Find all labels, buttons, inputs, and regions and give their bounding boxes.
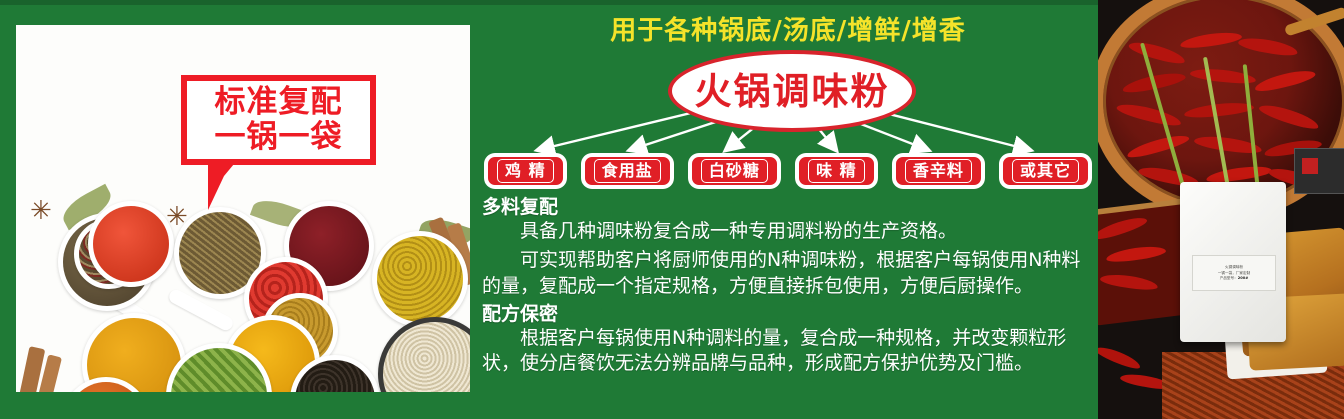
product-bag-label: 火锅调味粉 一锅一袋，厂家定制 产品型号：200# [1192,255,1276,291]
dried-chili [1098,343,1142,371]
description-block: 多料复配 具备几种调味粉复合成一种专用调料粉的生产资格。 可实现帮助客户将厨师使… [482,196,1094,380]
chili-pan-photo: 火锅调味粉 一锅一袋，厂家定制 产品型号：200# [1098,0,1344,419]
product-title: 火锅调味粉 [695,73,890,110]
product-bag: 火锅调味粉 一锅一袋，厂家定制 产品型号：200# [1180,182,1286,342]
middle-content: 用于各种锅底/汤底/增鲜/增香 火锅调味粉 鸡 精 食用盐 白砂糖 [478,0,1098,419]
bubble-line-2: 一锅一袋 [215,122,343,153]
promo-banner: ✳ ✳ ✳ [0,0,1344,419]
speech-bubble-tail [208,164,234,210]
speech-bubble: 标准复配 一锅一袋 [181,75,376,165]
spice-bowl-mustard [372,231,468,327]
bag-label-line-1: 火锅调味粉 [1225,265,1243,269]
bag-label-line-3: 产品型号：200# [1220,276,1248,280]
spice-scene: ✳ ✳ ✳ [16,25,470,392]
bag-label-model-prefix: 产品型号： [1220,276,1238,280]
product-title-badge: 火锅调味粉 [668,50,916,132]
section-paragraph: 可实现帮助客户将厨师使用的N种调味粉，根据客户每锅使用N种料的量，复配成一个指定… [482,248,1094,298]
bubble-line-1: 标准复配 [215,87,343,118]
section-heading: 配方保密 [482,303,1094,325]
bag-label-model-value: 200# [1238,276,1249,280]
section-paragraph: 根据客户每锅使用N种调料的量，复合成一种规格，并改变颗粒形状，使分店餐饮无法分辨… [482,326,1094,376]
section-paragraph: 具备几种调味粉复合成一种专用调料粉的生产资格。 [482,219,1094,244]
cooker-indicator [1302,158,1318,174]
star-anise-icon: ✳ [30,197,52,223]
spice-bowl-sesame [378,317,470,392]
spice-bowls-photo: ✳ ✳ ✳ [16,25,470,392]
spice-bowl-paprika [88,201,174,287]
bag-label-line-2: 一锅一袋，厂家定制 [1218,271,1250,275]
